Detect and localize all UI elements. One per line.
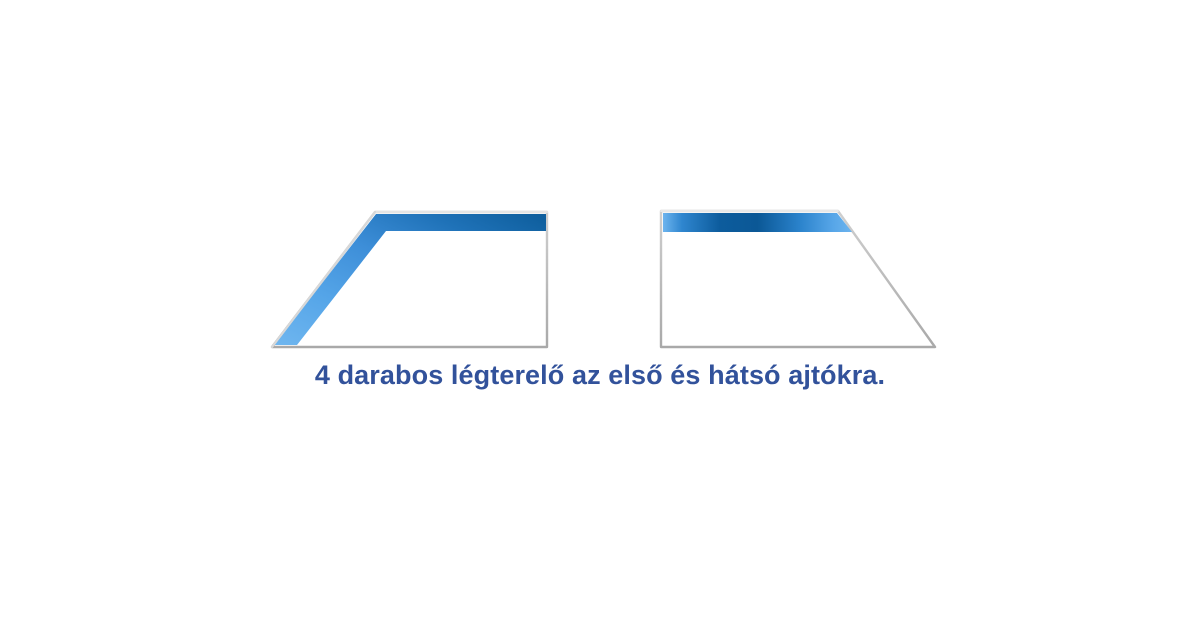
rear-door-wind-deflector <box>661 211 935 347</box>
front-door-wind-deflector <box>272 212 547 347</box>
front-deflector-body <box>272 212 547 347</box>
rear-deflector-tint-band <box>663 213 852 232</box>
illustration-canvas: 4 darabos légterelő az első és hátsó ajt… <box>0 0 1200 630</box>
wind-deflector-diagram <box>0 0 1200 630</box>
caption-text: 4 darabos légterelő az első és hátsó ajt… <box>0 360 1200 391</box>
